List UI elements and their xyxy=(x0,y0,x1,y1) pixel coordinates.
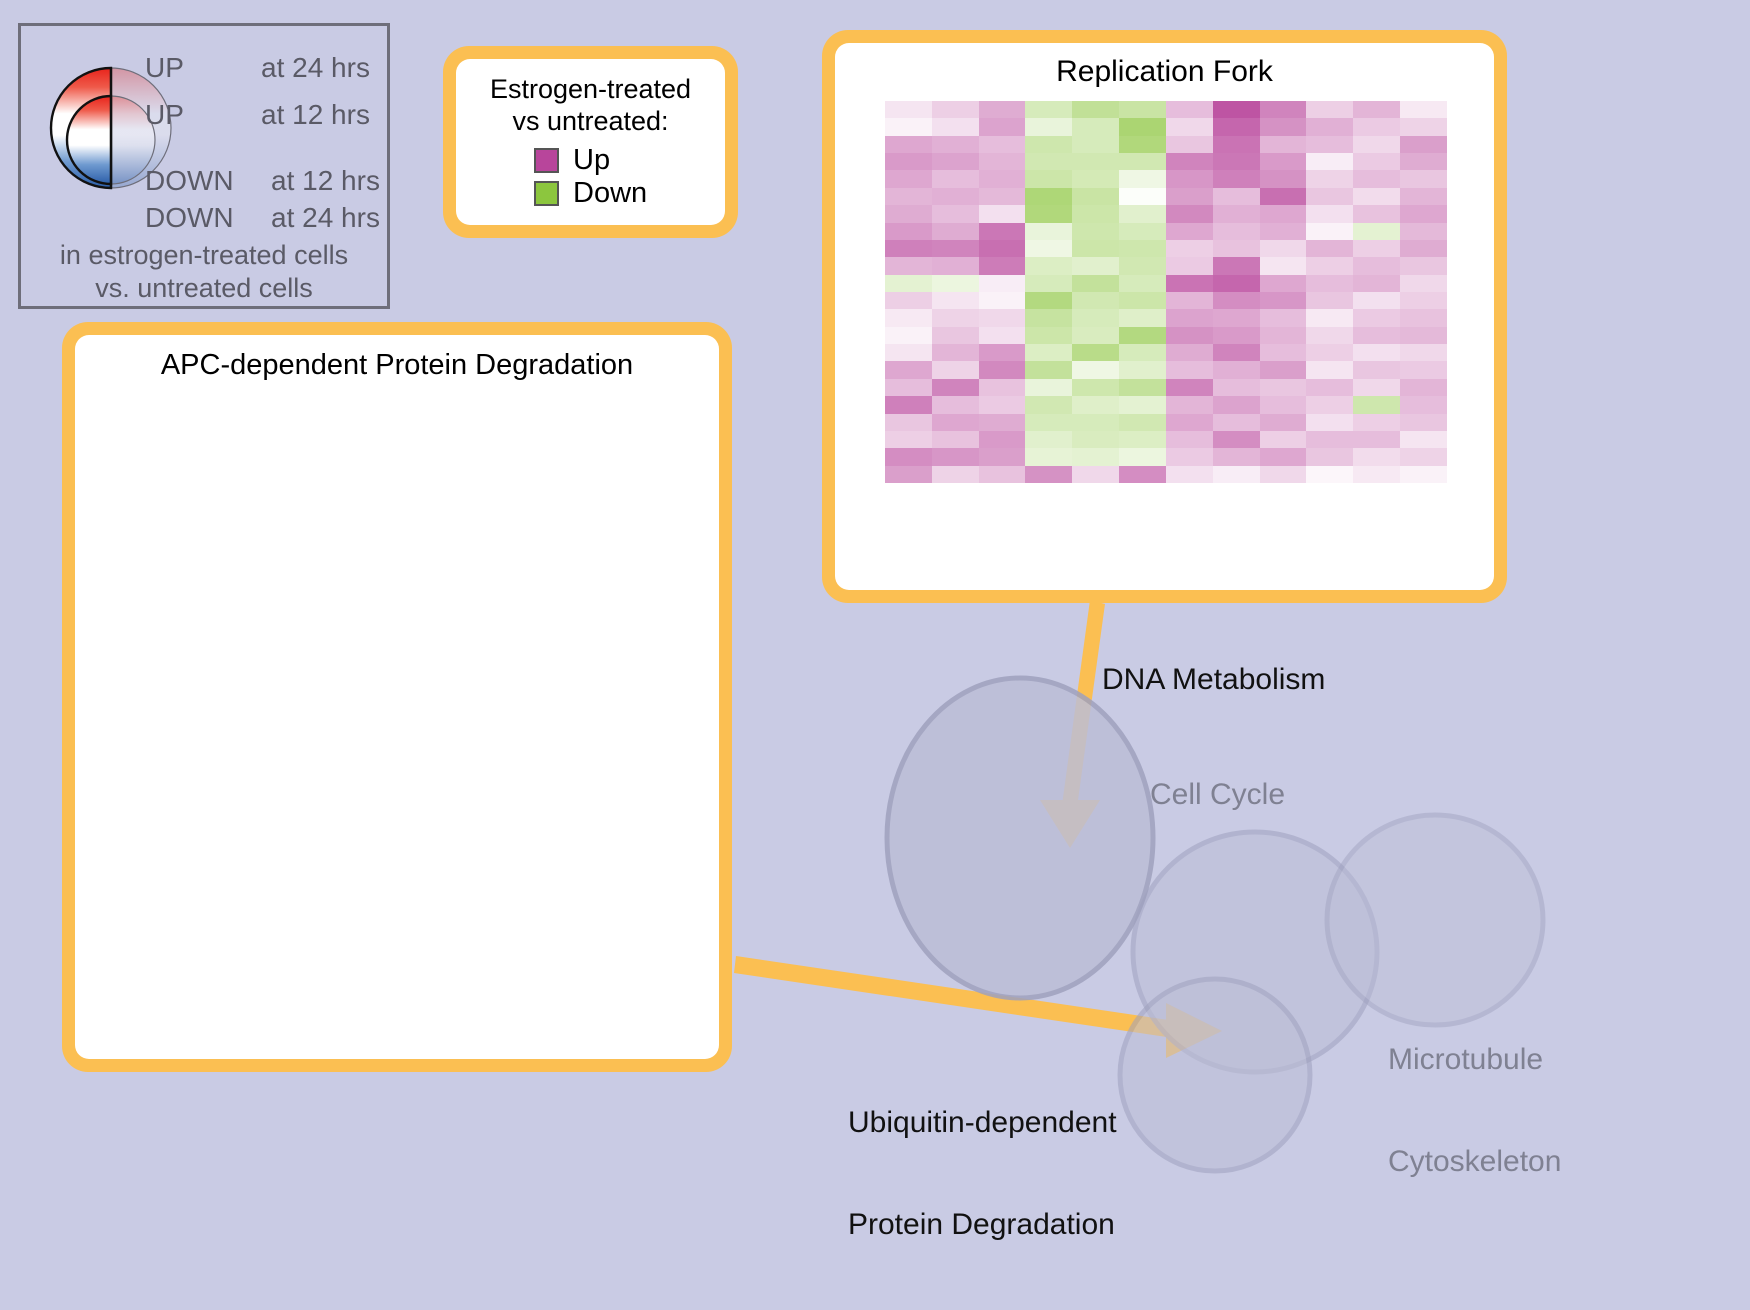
heatmap-cell xyxy=(1400,344,1447,361)
legend-up-24-key: UP xyxy=(145,53,184,83)
heatmap-cell xyxy=(932,309,979,326)
heatmap-cell xyxy=(1400,379,1447,396)
cluster-label-cell-cycle: Cell Cycle xyxy=(1150,778,1285,812)
heatmap-cell xyxy=(1213,153,1260,170)
heatmap-cell xyxy=(1260,309,1307,326)
replication-fork-inner: Replication Fork xyxy=(835,43,1494,590)
estrogen-key-items: Up Down xyxy=(466,145,715,209)
apc-condition-labels xyxy=(115,995,689,1025)
heatmap-cell xyxy=(1213,431,1260,448)
heatmap-cell xyxy=(1166,153,1213,170)
heatmap-cell xyxy=(1400,309,1447,326)
heatmap-cell xyxy=(932,205,979,222)
apc-inner: APC-dependent Protein Degradation xyxy=(75,335,719,1059)
replication-fork-title: Replication Fork xyxy=(835,43,1494,89)
heatmap-cell xyxy=(932,361,979,378)
heatmap-cell xyxy=(932,101,979,118)
replication-fork-timepoint-bar xyxy=(881,543,1451,552)
heatmap-cell xyxy=(979,136,1026,153)
heatmap-cell xyxy=(1119,170,1166,187)
heatmap-cell xyxy=(1025,118,1072,135)
heatmap-cell xyxy=(1260,327,1307,344)
heatmap-cell xyxy=(1353,396,1400,413)
heatmap-cell xyxy=(1353,292,1400,309)
heatmap-cell xyxy=(932,379,979,396)
heatmap-cell xyxy=(1306,414,1353,431)
heatmap-cell xyxy=(1213,188,1260,205)
heatmap-cell xyxy=(1072,118,1119,135)
heatmap-cell xyxy=(932,153,979,170)
heatmap-cell xyxy=(1353,309,1400,326)
heatmap-cell xyxy=(1306,205,1353,222)
heatmap-cell xyxy=(1119,466,1166,483)
heatmap-cell xyxy=(979,344,1026,361)
heatmap-cell xyxy=(1166,101,1213,118)
heatmap-cell xyxy=(1119,136,1166,153)
heatmap-cell xyxy=(1306,223,1353,240)
heatmap-cell xyxy=(1213,414,1260,431)
heatmap-cell xyxy=(1025,379,1072,396)
heatmap-cell xyxy=(1119,275,1166,292)
heatmap-cell xyxy=(1213,101,1260,118)
heatmap-cell xyxy=(1166,257,1213,274)
heatmap-cell xyxy=(1213,361,1260,378)
heatmap-cell xyxy=(1166,361,1213,378)
heatmap-cell xyxy=(1166,448,1213,465)
heatmap-cell xyxy=(1306,431,1353,448)
heatmap-cell xyxy=(885,448,932,465)
heatmap-cell xyxy=(1072,431,1119,448)
heatmap-cell xyxy=(1166,396,1213,413)
heatmap-cell xyxy=(1213,223,1260,240)
heatmap-cell xyxy=(1400,414,1447,431)
legend-down-12-value: at 12 hrs xyxy=(271,166,380,196)
heatmap-cell xyxy=(885,170,932,187)
heatmap-cell xyxy=(1353,136,1400,153)
heatmap-cell xyxy=(1213,396,1260,413)
cluster-label-ubiquitin-protein-degradation: Ubiquitin-dependent Protein Degradation xyxy=(848,1038,1117,1310)
heatmap-cell xyxy=(1166,292,1213,309)
heatmap-cell xyxy=(1260,431,1307,448)
heatmap-cell xyxy=(1400,275,1447,292)
expression-legend-panel: UP at 24 hrs UP at 12 hrs DOWN at 12 hrs… xyxy=(18,23,390,309)
heatmap-cell xyxy=(1260,205,1307,222)
heatmap-cell xyxy=(1119,361,1166,378)
heatmap-cell xyxy=(1072,414,1119,431)
heatmap-cell xyxy=(1213,240,1260,257)
heatmap-cell xyxy=(1306,466,1353,483)
legend-down-24-key: DOWN xyxy=(145,203,234,233)
heatmap-cell xyxy=(885,136,932,153)
figure-canvas: UP at 24 hrs UP at 12 hrs DOWN at 12 hrs… xyxy=(0,0,1750,1279)
heatmap-cell xyxy=(1025,361,1072,378)
heatmap-cell xyxy=(1400,153,1447,170)
heatmap-cell xyxy=(1072,240,1119,257)
heatmap-cell xyxy=(1119,344,1166,361)
heatmap-cell xyxy=(932,118,979,135)
heatmap-cell xyxy=(1166,240,1213,257)
estrogen-key-title-line1: Estrogen-treated xyxy=(466,73,715,105)
heatmap-cell xyxy=(1260,292,1307,309)
heatmap-cell xyxy=(1400,448,1447,465)
heatmap-cell xyxy=(1072,101,1119,118)
heatmap-cell xyxy=(1072,223,1119,240)
heatmap-cell xyxy=(885,275,932,292)
heatmap-cell xyxy=(979,466,1026,483)
heatmap-cell xyxy=(1025,414,1072,431)
heatmap-cell xyxy=(1072,344,1119,361)
heatmap-cell xyxy=(979,361,1026,378)
apc-condition-bar xyxy=(115,1027,689,1042)
heatmap-cell xyxy=(885,309,932,326)
heatmap-cell xyxy=(1072,153,1119,170)
heatmap-cell xyxy=(1260,275,1307,292)
estrogen-key-inner: Estrogen-treated vs untreated: Up Down xyxy=(456,59,725,225)
heatmap-cell xyxy=(1353,275,1400,292)
heatmap-cell xyxy=(932,240,979,257)
heatmap-cell xyxy=(1119,205,1166,222)
legend-up-12-key: UP xyxy=(145,100,184,130)
heatmap-cell xyxy=(979,101,1026,118)
estrogen-key-title-line2: vs untreated: xyxy=(466,105,715,137)
heatmap-cell xyxy=(1260,101,1307,118)
heatmap-cell xyxy=(1213,136,1260,153)
heatmap-cell xyxy=(1306,188,1353,205)
heatmap-cell xyxy=(1400,240,1447,257)
heatmap-cell xyxy=(1025,431,1072,448)
heatmap-cell xyxy=(1260,136,1307,153)
heatmap-cell xyxy=(1353,466,1400,483)
heatmap-cell xyxy=(1306,275,1353,292)
heatmap-cell xyxy=(1119,118,1166,135)
heatmap-cell xyxy=(932,431,979,448)
heatmap-cell xyxy=(1306,153,1353,170)
heatmap-cell xyxy=(885,344,932,361)
heatmap-cell xyxy=(1400,396,1447,413)
heatmap-cell xyxy=(885,361,932,378)
heatmap-cell xyxy=(979,448,1026,465)
heatmap-cell xyxy=(1213,344,1260,361)
heatmap-cell xyxy=(932,448,979,465)
heatmap-cell xyxy=(1260,223,1307,240)
heatmap-cell xyxy=(932,136,979,153)
heatmap-cell xyxy=(1166,431,1213,448)
heatmap-cell xyxy=(932,170,979,187)
heatmap-cell xyxy=(1260,396,1307,413)
key-item-down: Down xyxy=(534,178,715,209)
heatmap-cell xyxy=(1072,327,1119,344)
legend-caption-line1: in estrogen-treated cells xyxy=(21,239,387,272)
heatmap-cell xyxy=(1119,223,1166,240)
heatmap-cell xyxy=(1072,309,1119,326)
heatmap-cell xyxy=(1025,205,1072,222)
heatmap-cell xyxy=(1400,101,1447,118)
heatmap-cell xyxy=(1072,170,1119,187)
heatmap-cell xyxy=(979,431,1026,448)
heatmap-cell xyxy=(885,379,932,396)
heatmap-cell xyxy=(1353,379,1400,396)
heatmap-cell xyxy=(1353,344,1400,361)
heatmap-cell xyxy=(885,240,932,257)
cluster-label-microtubule-line1: Microtubule xyxy=(1388,1043,1561,1077)
heatmap-cell xyxy=(1119,309,1166,326)
heatmap-cell xyxy=(885,431,932,448)
legend-down-24-value: at 24 hrs xyxy=(271,203,380,233)
heatmap-cell xyxy=(1025,327,1072,344)
heatmap-cell xyxy=(1166,188,1213,205)
heatmap-cell xyxy=(1260,448,1307,465)
heatmap-cell xyxy=(979,153,1026,170)
replication-fork-heatmap xyxy=(885,101,1447,483)
heatmap-cell xyxy=(1260,361,1307,378)
heatmap-cell xyxy=(1400,466,1447,483)
heatmap-cell xyxy=(1353,361,1400,378)
heatmap-cell xyxy=(885,396,932,413)
heatmap-cell xyxy=(1306,136,1353,153)
legend-down-12-key: DOWN xyxy=(145,166,234,196)
heatmap-cell xyxy=(1353,101,1400,118)
heatmap-cell xyxy=(1353,170,1400,187)
estrogen-key-title: Estrogen-treated vs untreated: xyxy=(466,73,715,137)
heatmap-cell xyxy=(1166,118,1213,135)
heatmap-cell xyxy=(1166,327,1213,344)
cluster-label-ubiquitin-line2: Protein Degradation xyxy=(848,1208,1117,1242)
heatmap-cell xyxy=(979,257,1026,274)
heatmap-cell xyxy=(1072,136,1119,153)
heatmap-cell xyxy=(1306,292,1353,309)
heatmap-cell xyxy=(1025,309,1072,326)
heatmap-cell xyxy=(1166,344,1213,361)
heatmap-cell xyxy=(979,309,1026,326)
heatmap-cell xyxy=(1166,466,1213,483)
heatmap-cell xyxy=(932,275,979,292)
heatmap-cell xyxy=(1025,448,1072,465)
apc-timepoint-labels xyxy=(115,1058,689,1088)
heatmap-cell xyxy=(1306,361,1353,378)
heatmap-cell xyxy=(932,257,979,274)
heatmap-cell xyxy=(1400,118,1447,135)
cluster-label-ubiquitin-line1: Ubiquitin-dependent xyxy=(848,1106,1117,1140)
heatmap-cell xyxy=(1260,153,1307,170)
heatmap-cell xyxy=(1119,327,1166,344)
heatmap-cell xyxy=(885,327,932,344)
heatmap-cell xyxy=(1213,327,1260,344)
heatmap-cell xyxy=(1072,466,1119,483)
legend-up-12-value: at 12 hrs xyxy=(261,100,370,130)
heatmap-cell xyxy=(1213,448,1260,465)
heatmap-cell xyxy=(1025,257,1072,274)
heatmap-cell xyxy=(1119,431,1166,448)
heatmap-cell xyxy=(1306,118,1353,135)
heatmap-cell xyxy=(1353,240,1400,257)
heatmap-cell xyxy=(979,188,1026,205)
replication-fork-timepoint-labels xyxy=(881,555,1451,585)
heatmap-cell xyxy=(1025,292,1072,309)
heatmap-cell xyxy=(1353,327,1400,344)
heatmap-cell xyxy=(1213,292,1260,309)
heatmap-cell xyxy=(1353,153,1400,170)
heatmap-cell xyxy=(979,223,1026,240)
down-color-swatch xyxy=(534,181,559,206)
heatmap-cell xyxy=(979,118,1026,135)
heatmap-cell xyxy=(1400,170,1447,187)
replication-fork-condition-labels xyxy=(881,491,1451,521)
heatmap-cell xyxy=(1306,309,1353,326)
heatmap-cell xyxy=(1072,205,1119,222)
replication-fork-panel: Replication Fork xyxy=(822,30,1507,603)
heatmap-cell xyxy=(885,153,932,170)
key-label-up: Up xyxy=(573,145,610,176)
heatmap-cell xyxy=(1025,396,1072,413)
heatmap-cell xyxy=(932,396,979,413)
heatmap-cell xyxy=(1025,240,1072,257)
heatmap-cell xyxy=(932,223,979,240)
heatmap-cell xyxy=(1119,414,1166,431)
key-label-down: Down xyxy=(573,178,647,209)
apc-heatmap xyxy=(119,399,685,989)
heatmap-cell xyxy=(1119,379,1166,396)
heatmap-cell xyxy=(1306,344,1353,361)
heatmap-cell xyxy=(979,379,1026,396)
heatmap-cell xyxy=(1353,257,1400,274)
heatmap-cell xyxy=(979,205,1026,222)
heatmap-cell xyxy=(1306,448,1353,465)
heatmap-cell xyxy=(1119,396,1166,413)
heatmap-cell xyxy=(1025,275,1072,292)
heatmap-cell xyxy=(1166,414,1213,431)
heatmap-cell xyxy=(932,466,979,483)
heatmap-cell xyxy=(1025,466,1072,483)
heatmap-cell xyxy=(932,292,979,309)
cluster-label-microtubule-line2: Cytoskeleton xyxy=(1388,1145,1561,1179)
heatmap-cell xyxy=(1306,327,1353,344)
heatmap-cell xyxy=(1072,448,1119,465)
estrogen-key-panel: Estrogen-treated vs untreated: Up Down xyxy=(443,46,738,238)
heatmap-cell xyxy=(1166,275,1213,292)
heatmap-cell xyxy=(979,327,1026,344)
heatmap-cell xyxy=(1260,240,1307,257)
heatmap-cell xyxy=(979,414,1026,431)
heatmap-cell xyxy=(1025,153,1072,170)
heatmap-cell xyxy=(932,414,979,431)
heatmap-cell xyxy=(979,396,1026,413)
heatmap-cell xyxy=(1119,240,1166,257)
heatmap-cell xyxy=(885,292,932,309)
heatmap-cell xyxy=(932,344,979,361)
heatmap-cell xyxy=(885,101,932,118)
heatmap-cell xyxy=(1072,361,1119,378)
apc-title: APC-dependent Protein Degradation xyxy=(75,335,719,382)
heatmap-cell xyxy=(1025,344,1072,361)
heatmap-cell xyxy=(885,223,932,240)
heatmap-cell xyxy=(1260,170,1307,187)
heatmap-cell xyxy=(1072,396,1119,413)
heatmap-cell xyxy=(1260,118,1307,135)
heatmap-cell xyxy=(885,257,932,274)
heatmap-cell xyxy=(1306,257,1353,274)
heatmap-cell xyxy=(885,414,932,431)
heatmap-cell xyxy=(1306,101,1353,118)
apc-panel: APC-dependent Protein Degradation xyxy=(62,322,732,1072)
heatmap-cell xyxy=(885,466,932,483)
heatmap-cell xyxy=(1025,136,1072,153)
heatmap-cell xyxy=(1353,431,1400,448)
heatmap-cell xyxy=(1119,188,1166,205)
heatmap-cell xyxy=(1072,379,1119,396)
heatmap-cell xyxy=(1119,153,1166,170)
legend-caption: in estrogen-treated cells vs. untreated … xyxy=(21,239,387,305)
heatmap-cell xyxy=(979,170,1026,187)
heatmap-cell xyxy=(1400,431,1447,448)
heatmap-cell xyxy=(1400,361,1447,378)
heatmap-cell xyxy=(1306,170,1353,187)
heatmap-cell xyxy=(1213,118,1260,135)
cluster-label-dna-metabolism: DNA Metabolism xyxy=(1102,663,1325,697)
heatmap-cell xyxy=(1353,205,1400,222)
heatmap-cell xyxy=(1119,257,1166,274)
heatmap-cell xyxy=(1400,223,1447,240)
replication-fork-condition-bar xyxy=(881,524,1451,539)
heatmap-cell xyxy=(1072,275,1119,292)
heatmap-cell xyxy=(1166,170,1213,187)
heatmap-cell xyxy=(885,118,932,135)
heatmap-cell xyxy=(1025,223,1072,240)
heatmap-cell xyxy=(1119,101,1166,118)
heatmap-cell xyxy=(979,292,1026,309)
heatmap-cell xyxy=(1213,309,1260,326)
heatmap-cell xyxy=(1400,327,1447,344)
heatmap-cell xyxy=(1213,205,1260,222)
heatmap-cell xyxy=(1213,466,1260,483)
heatmap-cell xyxy=(1213,275,1260,292)
heatmap-cell xyxy=(1353,414,1400,431)
heatmap-cell xyxy=(1400,188,1447,205)
heatmap-cell xyxy=(979,275,1026,292)
apc-timepoint-bar xyxy=(115,1046,689,1055)
heatmap-cell xyxy=(1213,379,1260,396)
heatmap-cell xyxy=(1025,101,1072,118)
heatmap-cell xyxy=(1119,292,1166,309)
heatmap-cell xyxy=(1353,188,1400,205)
heatmap-cell xyxy=(1400,205,1447,222)
heatmap-cell xyxy=(1260,188,1307,205)
heatmap-cell xyxy=(1260,466,1307,483)
heatmap-cell xyxy=(932,327,979,344)
heatmap-cell xyxy=(1072,188,1119,205)
heatmap-cell xyxy=(1072,292,1119,309)
legend-up-24-value: at 24 hrs xyxy=(261,53,370,83)
heatmap-cell xyxy=(1260,379,1307,396)
heatmap-cell xyxy=(1306,240,1353,257)
heatmap-cell xyxy=(1353,118,1400,135)
heatmap-cell xyxy=(1166,136,1213,153)
key-item-up: Up xyxy=(534,145,715,176)
heatmap-cell xyxy=(1400,136,1447,153)
heatmap-cell xyxy=(885,188,932,205)
heatmap-cell xyxy=(1306,379,1353,396)
heatmap-cell xyxy=(1400,292,1447,309)
heatmap-cell xyxy=(1213,170,1260,187)
heatmap-cell xyxy=(1260,257,1307,274)
heatmap-cell xyxy=(1260,344,1307,361)
heatmap-cell xyxy=(1025,188,1072,205)
heatmap-cell xyxy=(1166,205,1213,222)
heatmap-cell xyxy=(1166,379,1213,396)
heatmap-cell xyxy=(979,240,1026,257)
heatmap-cell xyxy=(1119,448,1166,465)
cluster-label-microtubule-cytoskeleton: Microtubule Cytoskeleton xyxy=(1388,975,1561,1247)
heatmap-cell xyxy=(1213,257,1260,274)
